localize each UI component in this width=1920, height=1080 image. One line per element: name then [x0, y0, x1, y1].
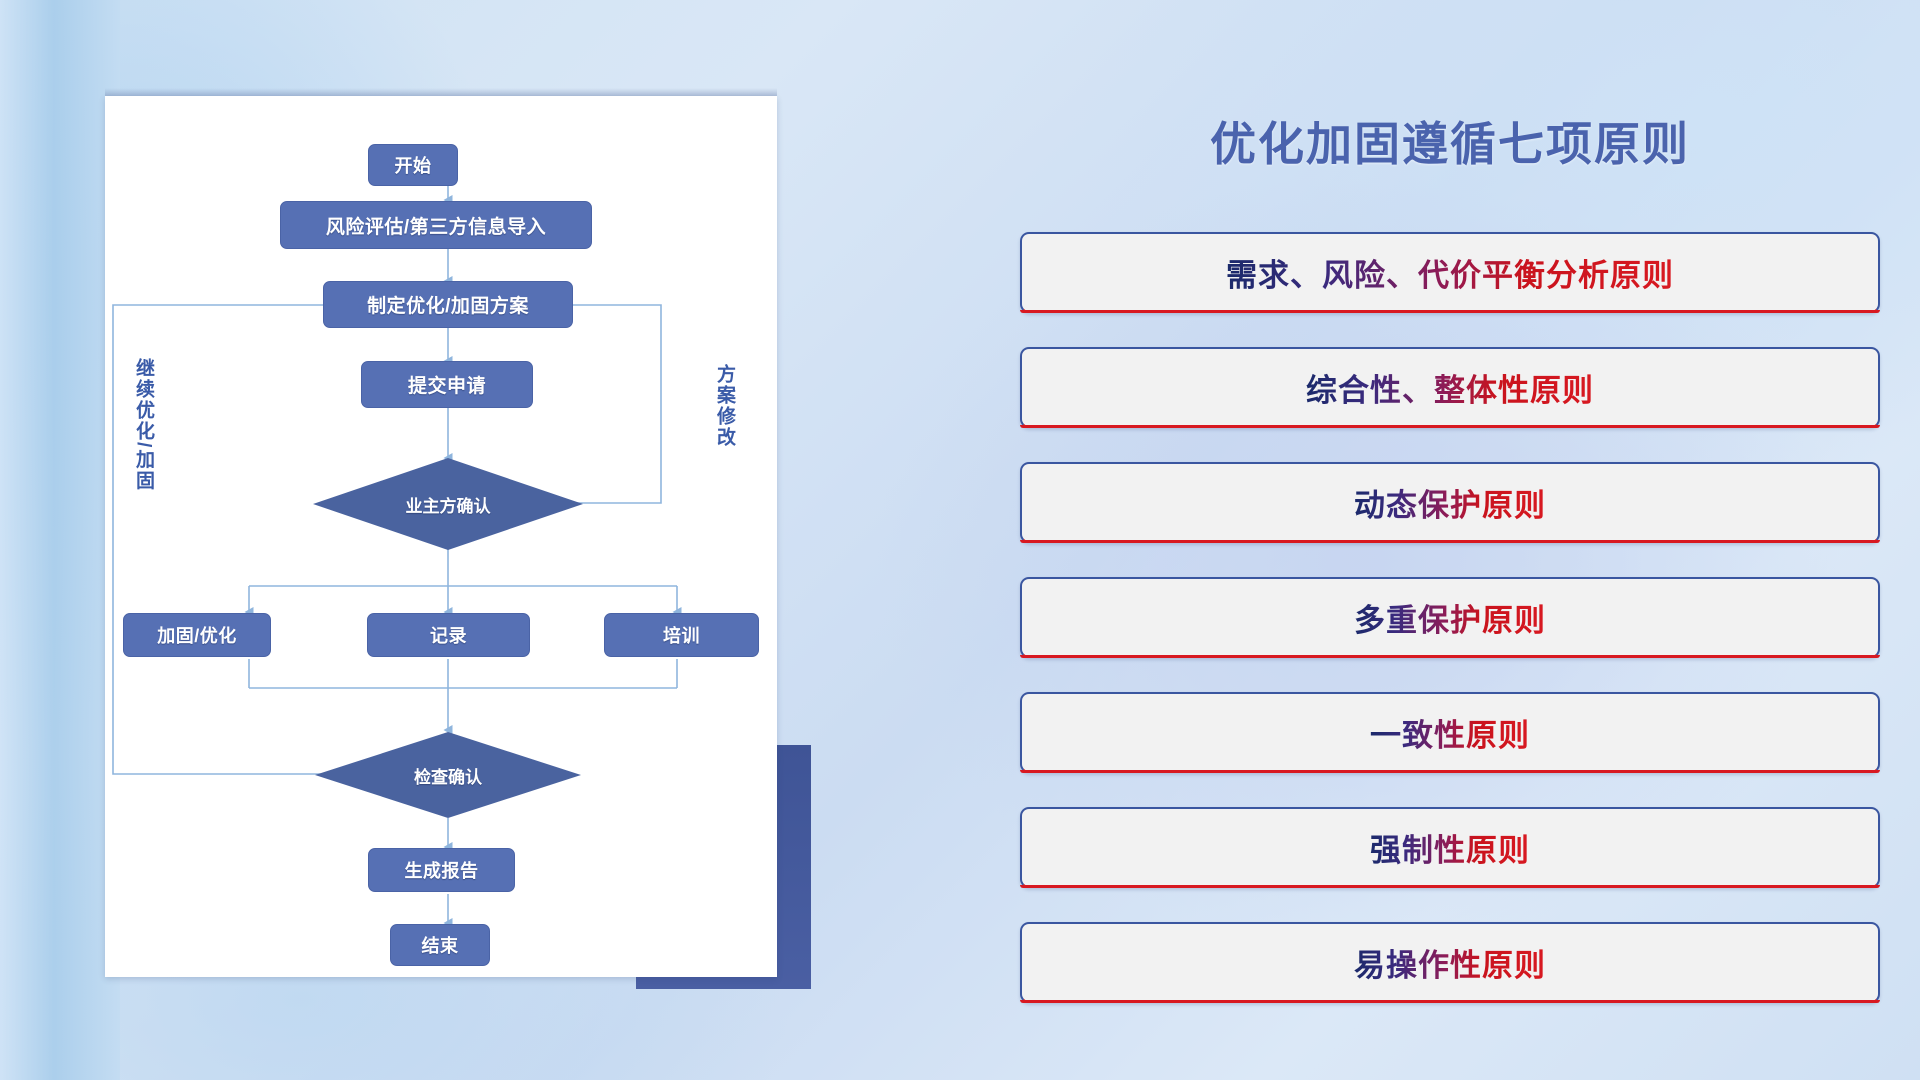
flow-edge-label-left: 继续优化/加固 [133, 358, 153, 533]
flow-node-record-label: 记录 [430, 622, 467, 648]
flow-node-end[interactable]: 结束 [390, 924, 490, 966]
principle-item-6[interactable]: 强制性原则 [1020, 807, 1880, 888]
principle-item-4[interactable]: 多重保护原则 [1020, 577, 1880, 658]
principle-item-4-label: 多重保护原则 [1354, 595, 1546, 640]
principle-item-1-label: 需求、风险、代价平衡分析原则 [1226, 250, 1674, 295]
flow-edge-label-right: 方案修改 [714, 364, 734, 464]
flow-node-reinforce-label: 加固/优化 [157, 622, 237, 648]
flow-node-report[interactable]: 生成报告 [368, 848, 515, 892]
flow-node-report-label: 生成报告 [405, 857, 479, 883]
flow-node-submit[interactable]: 提交申请 [361, 361, 533, 408]
slide-canvas: 开始 风险评估/第三方信息导入 制定优化/加固方案 提交申请 业主方确认 加固/… [0, 0, 1920, 1080]
flow-node-assess[interactable]: 风险评估/第三方信息导入 [280, 201, 592, 249]
principle-item-3[interactable]: 动态保护原则 [1020, 462, 1880, 543]
flow-node-plan-label: 制定优化/加固方案 [367, 291, 529, 318]
flow-decision-check-confirm-label: 检查确认 [414, 763, 482, 788]
principles-panel: 优化加固遵循七项原则 需求、风险、代价平衡分析原则 综合性、整体性原则 动态保护… [1020, 0, 1880, 1080]
principles-list: 需求、风险、代价平衡分析原则 综合性、整体性原则 动态保护原则 多重保护原则 一… [1020, 232, 1880, 1037]
principle-item-6-label: 强制性原则 [1370, 825, 1530, 870]
flow-decision-owner-confirm-label: 业主方确认 [406, 492, 491, 517]
principle-item-5[interactable]: 一致性原则 [1020, 692, 1880, 773]
flow-decision-owner-confirm[interactable]: 业主方确认 [313, 458, 583, 550]
flow-node-record[interactable]: 记录 [367, 613, 530, 657]
flow-node-start[interactable]: 开始 [368, 144, 458, 186]
flowchart-card: 开始 风险评估/第三方信息导入 制定优化/加固方案 提交申请 业主方确认 加固/… [105, 96, 777, 977]
flow-node-reinforce[interactable]: 加固/优化 [123, 613, 271, 657]
flow-decision-check-confirm[interactable]: 检查确认 [315, 732, 581, 818]
principle-item-1[interactable]: 需求、风险、代价平衡分析原则 [1020, 232, 1880, 313]
flow-node-start-label: 开始 [395, 152, 432, 178]
flow-node-submit-label: 提交申请 [408, 371, 486, 398]
principle-item-7[interactable]: 易操作性原则 [1020, 922, 1880, 1003]
flow-node-plan[interactable]: 制定优化/加固方案 [323, 281, 573, 328]
flowchart: 开始 风险评估/第三方信息导入 制定优化/加固方案 提交申请 业主方确认 加固/… [105, 96, 777, 977]
principle-item-5-label: 一致性原则 [1370, 710, 1530, 755]
principles-title: 优化加固遵循七项原则 [1020, 108, 1880, 174]
principle-item-7-label: 易操作性原则 [1354, 940, 1546, 985]
flow-node-train[interactable]: 培训 [604, 613, 759, 657]
flow-node-train-label: 培训 [663, 622, 700, 648]
principle-item-2-label: 综合性、整体性原则 [1306, 365, 1594, 410]
principle-item-2[interactable]: 综合性、整体性原则 [1020, 347, 1880, 428]
flow-node-assess-label: 风险评估/第三方信息导入 [326, 212, 546, 239]
principle-item-3-label: 动态保护原则 [1354, 480, 1546, 525]
flow-node-end-label: 结束 [422, 932, 459, 958]
